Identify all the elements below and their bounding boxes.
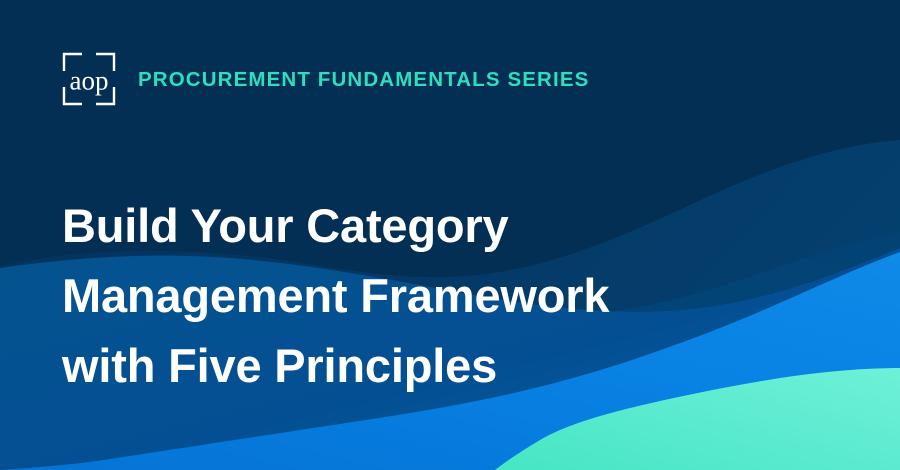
- aop-bracket-logo-icon: aop: [62, 52, 116, 106]
- promo-banner: aop PROCUREMENT FUNDAMENTALS SERIES Buil…: [0, 0, 900, 470]
- banner-content: aop PROCUREMENT FUNDAMENTALS SERIES Buil…: [0, 0, 900, 470]
- page-title-line-1: Build Your Category: [62, 191, 762, 261]
- page-title-line-2: Management Framework: [62, 261, 762, 331]
- page-title-line-3: with Five Principles: [62, 331, 762, 401]
- brand-row: aop PROCUREMENT FUNDAMENTALS SERIES: [62, 52, 589, 106]
- series-eyebrow-label: PROCUREMENT FUNDAMENTALS SERIES: [138, 70, 589, 91]
- page-title: Build Your Category Management Framework…: [62, 191, 762, 401]
- svg-text:aop: aop: [70, 66, 109, 96]
